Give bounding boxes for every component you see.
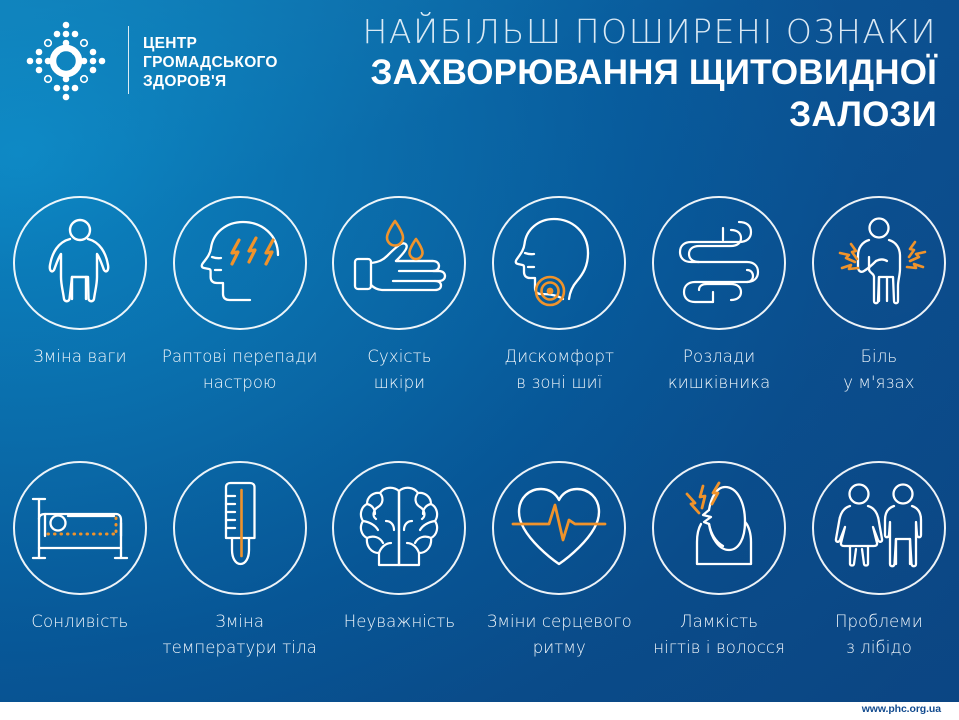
symptom-item-dry-skin[interactable]: Сухість шкіри (320, 196, 480, 396)
symptom-item-weight-change[interactable]: Зміна ваги (0, 196, 160, 396)
symptom-row-1: Зміна ваги (0, 196, 959, 396)
symptom-label: Розлади кишківника (668, 344, 770, 396)
symptom-badge (332, 196, 466, 330)
heart-ecg-icon (507, 476, 611, 580)
symptom-badge (652, 196, 786, 330)
intestines-icon (669, 213, 769, 313)
symptom-item-inattention[interactable]: Неуважність (320, 461, 480, 661)
symptom-item-neck-discomfort[interactable]: Дискомфорт в зоні шиї (479, 196, 639, 396)
symptom-grid: Зміна ваги (0, 196, 959, 661)
symptom-badge (652, 461, 786, 595)
symptom-label: Проблеми з лібідо (835, 609, 923, 661)
symptom-badge (492, 461, 626, 595)
symptom-label: Неуважність (344, 609, 455, 635)
symptom-badge (173, 461, 307, 595)
symptom-badge (13, 196, 147, 330)
infographic-poster: ЦЕНТР ГРОМАДСЬКОГО ЗДОРОВ'Я НАЙБІЛЬШ ПОШ… (0, 0, 959, 720)
symptom-badge (332, 461, 466, 595)
symptom-label: Ламкість нігтів і волосся (653, 609, 785, 661)
symptom-label: Зміни серцевого ритму (487, 609, 632, 661)
thermometer-icon (188, 476, 292, 580)
symptom-badge (13, 461, 147, 595)
body-figure-icon (30, 213, 130, 313)
page-title: НАЙБІЛЬШ ПОШИРЕНІ ОЗНАКИ ЗАХВОРЮВАННЯ ЩИ… (257, 12, 937, 136)
symptom-label: Сонливість (31, 609, 128, 635)
footer-bar (0, 704, 959, 720)
brand-logo-block: ЦЕНТР ГРОМАДСЬКОГО ЗДОРОВ'Я (24, 16, 269, 102)
symptom-item-bowel-disorders[interactable]: Розлади кишківника (639, 196, 799, 396)
symptom-item-heart-rhythm[interactable]: Зміни серцевого ритму (479, 461, 639, 661)
logo-divider (128, 26, 129, 94)
symptom-item-body-temperature[interactable]: Зміна температури тіла (160, 461, 320, 661)
person-muscle-pain-icon (827, 211, 931, 315)
hand-droplets-icon (347, 211, 451, 315)
symptom-label: Зміна температури тіла (162, 609, 316, 661)
symptom-label: Біль у м'язах (843, 344, 914, 396)
symptom-label: Сухість шкіри (367, 344, 431, 396)
symptom-badge (492, 196, 626, 330)
couple-icon (828, 477, 930, 579)
symptom-item-brittle-nails-hair[interactable]: Ламкість нігтів і волосся (639, 461, 799, 661)
symptom-badge (173, 196, 307, 330)
title-subhead: НАЙБІЛЬШ ПОШИРЕНІ ОЗНАКИ (257, 12, 937, 52)
phc-dot-diamond-logo-icon (24, 19, 108, 103)
title-headline: ЗАХВОРЮВАННЯ ЩИТОВИДНОЇ ЗАЛОЗИ (257, 52, 937, 136)
symptom-item-libido-problems[interactable]: Проблеми з лібідо (799, 461, 959, 661)
symptom-item-mood-swings[interactable]: Раптові перепади настрою (160, 196, 320, 396)
brain-icon (348, 477, 450, 579)
symptom-row-2: Сонливість (0, 461, 959, 661)
head-neck-target-icon (507, 211, 611, 315)
symptom-badge (812, 461, 946, 595)
symptom-badge (812, 196, 946, 330)
symptom-label: Раптові перепади настрою (162, 344, 318, 396)
symptom-label: Зміна ваги (33, 344, 126, 370)
symptom-item-sleepiness[interactable]: Сонливість (0, 461, 160, 661)
footer-website-url[interactable]: www.phc.org.ua (862, 703, 941, 715)
symptom-label: Дискомфорт в зоні шиї (504, 344, 614, 396)
nail-breaking-icon (667, 476, 771, 580)
symptom-item-muscle-pain[interactable]: Біль у м'язах (799, 196, 959, 396)
head-lightning-icon (188, 211, 292, 315)
bed-sleeping-icon (28, 476, 132, 580)
